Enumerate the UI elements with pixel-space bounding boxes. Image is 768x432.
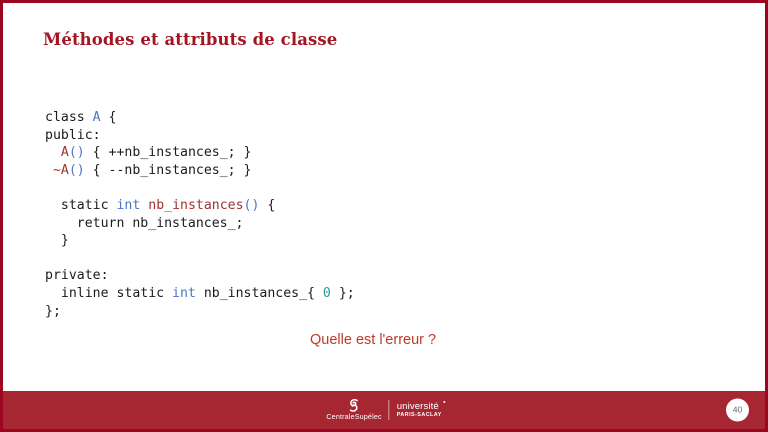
code-token-punct: () bbox=[69, 163, 85, 178]
centralesupelec-logo-text: CentraleSupélec bbox=[326, 413, 381, 420]
code-line: }; bbox=[45, 303, 665, 321]
code-line bbox=[45, 250, 665, 268]
code-token-fn: ~A bbox=[53, 163, 69, 178]
code-line bbox=[45, 179, 665, 197]
code-line: public: bbox=[45, 127, 665, 145]
logo-divider bbox=[389, 400, 390, 420]
code-line: private: bbox=[45, 267, 665, 285]
code-listing: class A {public: A() { ++nb_instances_; … bbox=[45, 109, 665, 320]
code-token-plain: inline static bbox=[45, 286, 172, 301]
code-line: ~A() { --nb_instances_; } bbox=[45, 162, 665, 180]
code-token-plain: { bbox=[101, 110, 117, 125]
slide: Méthodes et attributs de classe class A … bbox=[0, 0, 768, 432]
code-line: A() { ++nb_instances_; } bbox=[45, 144, 665, 162]
code-token-plain: class bbox=[45, 110, 93, 125]
code-line: static int nb_instances() { bbox=[45, 197, 665, 215]
code-token-plain: return nb_instances_; bbox=[45, 216, 244, 231]
code-token-punct: () bbox=[69, 145, 85, 160]
footer-logos: CentraleSupélec université PARIS-SACLAY bbox=[326, 395, 441, 425]
swirl-s-mark-icon bbox=[346, 399, 363, 412]
title-bar: Méthodes et attributs de classe bbox=[43, 28, 643, 58]
code-token-class: A bbox=[93, 110, 101, 125]
code-line: } bbox=[45, 232, 665, 250]
page-number: 40 bbox=[733, 406, 743, 415]
code-token-plain bbox=[45, 145, 61, 160]
centralesupelec-logo: CentraleSupélec bbox=[326, 399, 381, 420]
code-line: class A { bbox=[45, 109, 665, 127]
universite-word: université bbox=[397, 401, 439, 412]
code-token-fn: nb_instances bbox=[148, 198, 243, 213]
code-token-fn: A bbox=[61, 145, 69, 160]
code-block: class A {public: A() { ++nb_instances_; … bbox=[45, 109, 665, 320]
universite-paris-saclay-logo: université PARIS-SACLAY bbox=[397, 402, 442, 419]
question-text: Quelle est l'erreur ? bbox=[310, 332, 436, 348]
code-line: return nb_instances_; bbox=[45, 215, 665, 233]
page-number-badge: 40 bbox=[726, 399, 749, 422]
code-token-type: int bbox=[172, 286, 196, 301]
universite-accent-dot-icon bbox=[443, 401, 446, 404]
code-token-plain: { --nb_instances_; } bbox=[85, 163, 252, 178]
code-token-punct: () bbox=[244, 198, 260, 213]
footer-bar: CentraleSupélec université PARIS-SACLAY … bbox=[3, 391, 765, 429]
code-token-plain: public: bbox=[45, 128, 101, 143]
code-token-plain: nb_instances_{ bbox=[196, 286, 323, 301]
code-token-plain bbox=[45, 163, 53, 178]
code-line: inline static int nb_instances_{ 0 }; bbox=[45, 285, 665, 303]
code-token-type: int bbox=[116, 198, 140, 213]
code-token-plain: }; bbox=[45, 304, 61, 319]
code-token-plain: { bbox=[259, 198, 275, 213]
code-token-plain: }; bbox=[331, 286, 355, 301]
page-title: Méthodes et attributs de classe bbox=[43, 28, 643, 52]
code-token-plain: private: bbox=[45, 268, 109, 283]
code-token-plain: static bbox=[45, 198, 116, 213]
code-token-plain: } bbox=[45, 233, 69, 248]
universite-logo-text: université bbox=[397, 402, 442, 412]
code-token-num: 0 bbox=[323, 286, 331, 301]
paris-saclay-logo-subtitle: PARIS-SACLAY bbox=[397, 413, 442, 418]
code-token-plain: { ++nb_instances_; } bbox=[85, 145, 252, 160]
